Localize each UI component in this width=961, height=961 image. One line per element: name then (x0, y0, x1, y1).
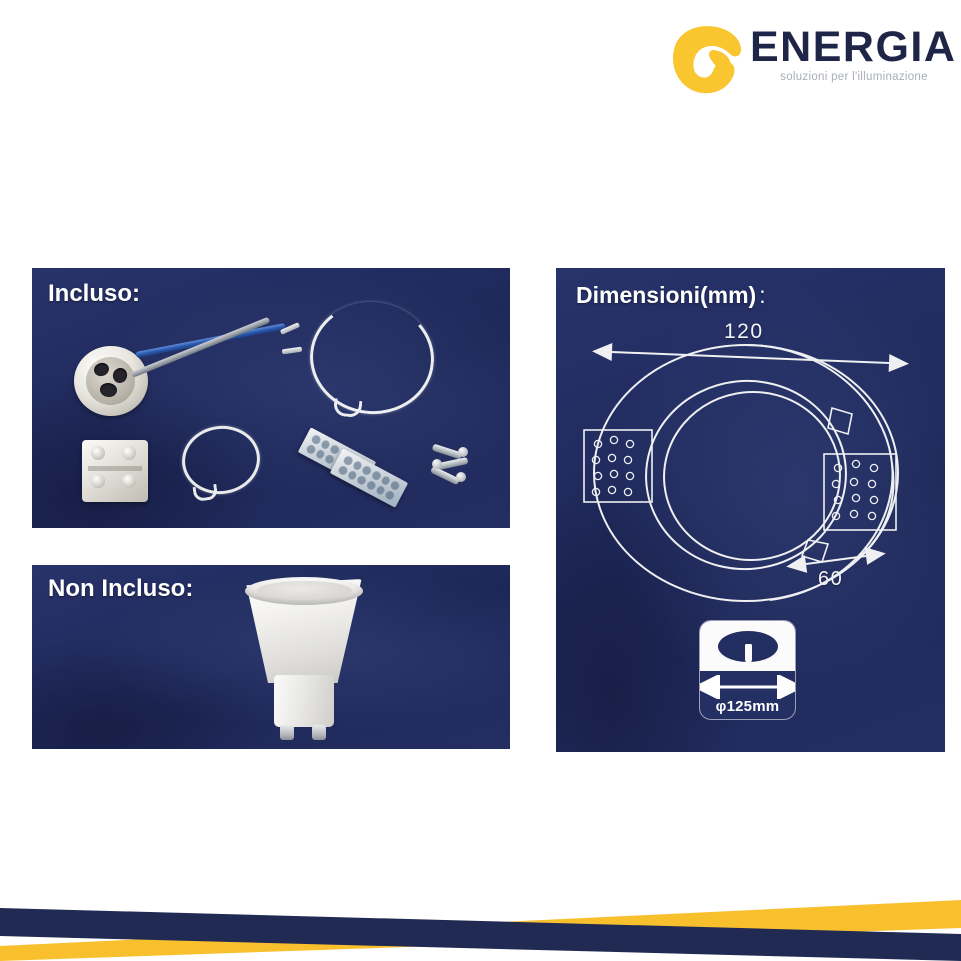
bracket-hole-grid (337, 455, 401, 502)
cutout-measure-area: φ125mm (700, 671, 795, 720)
terminal-slot (88, 466, 142, 471)
not-included-label: Non Incluso: (48, 575, 193, 603)
small-spring-clip-ring (178, 421, 265, 499)
cutout-size-badge: φ125mm (699, 620, 796, 720)
bulb-gu10-pin (312, 725, 326, 740)
gu10-led-bulb (244, 579, 364, 741)
cutout-diameter-label: φ125mm (700, 698, 795, 715)
grey-wire (131, 317, 270, 378)
brand-logo: ENERGIA soluzioni per l'illuminazione (668, 14, 948, 106)
holder-face (86, 357, 135, 405)
dimensions-label-text: Dimensioni(mm) (576, 282, 756, 308)
cutout-diameter-arrow (700, 675, 796, 699)
large-spring-clip-ring (304, 296, 439, 420)
energia-swoosh-icon (668, 20, 742, 98)
bulb-gu10-pin (280, 725, 294, 740)
holder-contact-hole (99, 382, 118, 398)
terminal-screw (91, 446, 105, 460)
screw-head (456, 472, 466, 482)
screw-head (458, 447, 468, 457)
cutout-ceiling-surface (700, 621, 795, 671)
wire-terminal-tip (282, 347, 303, 355)
width-dimension-arrow (612, 352, 889, 363)
included-label: Incluso: (48, 280, 140, 308)
brand-wordmark: ENERGIA (750, 26, 956, 69)
screw (438, 457, 469, 470)
dimensions-label-colon: : (756, 282, 765, 308)
bulb-front-rim (245, 577, 363, 605)
bulb-diffuser (257, 581, 352, 600)
product-infographic: ENERGIA soluzioni per l'illuminazione (0, 0, 961, 961)
panel-not-included: Non Incluso: (32, 565, 510, 749)
brand-tagline: soluzioni per l'illuminazione (754, 72, 954, 84)
terminal-screw (91, 474, 105, 488)
bottom-decorative-ribbon (0, 880, 961, 961)
terminal-block (82, 440, 148, 502)
panel-dimensions: 120 60 (556, 268, 945, 752)
holder-contact-hole (92, 361, 110, 378)
cutout-tab (745, 644, 752, 663)
dimensions-label: Dimensioni(mm): (576, 282, 766, 309)
downlight-outline (594, 345, 898, 601)
holder-contact-hole (111, 366, 130, 385)
panel-included: Incluso: (32, 268, 510, 528)
screw-head (432, 459, 442, 469)
downlight-inner-ring (637, 371, 856, 579)
terminal-screw (122, 446, 136, 460)
terminal-screw (122, 474, 136, 488)
bulb-base-neck (274, 675, 334, 727)
screws-group (430, 444, 482, 490)
